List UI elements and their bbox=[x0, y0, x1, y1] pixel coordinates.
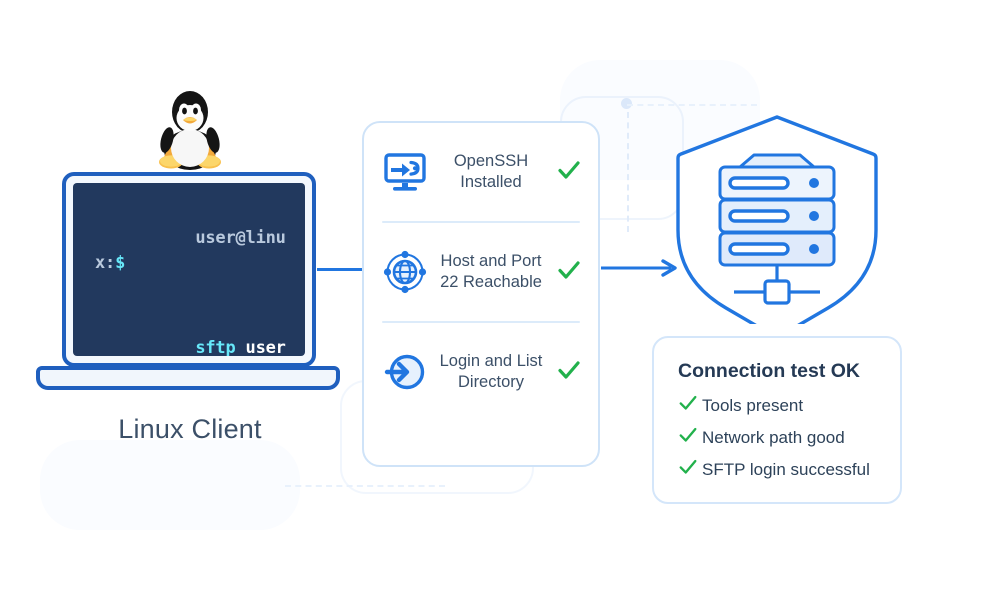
checklist-card: OpenSSH Installed bbox=[362, 121, 600, 467]
login-arrow-circle-icon bbox=[382, 349, 428, 395]
green-check-icon bbox=[678, 425, 702, 450]
background-blob-left bbox=[40, 440, 300, 530]
diagram-canvas: user@linux:$ sftp user@sftpexample.com C… bbox=[0, 0, 1000, 600]
connector-client-to-checklist bbox=[317, 268, 363, 271]
result-item-sftp: SFTP login successful bbox=[678, 457, 880, 482]
result-item-sftp-label: SFTP login successful bbox=[702, 460, 870, 480]
checklist-item-login[interactable]: Login and List Directory bbox=[364, 323, 598, 421]
terminal-prompt-line: user@linux:$ bbox=[95, 201, 291, 301]
terminal-screen: user@linux:$ sftp user@sftpexample.com C… bbox=[73, 183, 305, 356]
green-check-icon bbox=[678, 457, 702, 482]
terminal-content: user@linux:$ sftp user@sftpexample.com C… bbox=[95, 201, 291, 356]
background-dot bbox=[621, 98, 632, 109]
background-dashed-line-vertical bbox=[627, 112, 629, 232]
terminal-prompt-symbol: $ bbox=[115, 253, 125, 273]
checklist-item-openssh[interactable]: OpenSSH Installed bbox=[364, 123, 598, 221]
globe-network-icon bbox=[382, 249, 428, 295]
result-item-network: Network path good bbox=[678, 425, 880, 450]
green-check-icon bbox=[554, 257, 584, 288]
laptop-terminal: user@linux:$ sftp user@sftpexample.com C… bbox=[62, 172, 316, 367]
checklist-item-reachable-label: Host and Port 22 Reachable bbox=[428, 251, 554, 293]
terminal-command-space bbox=[236, 338, 246, 356]
result-item-network-label: Network path good bbox=[702, 428, 845, 448]
terminal-command-target: user@sftpexample.com bbox=[95, 338, 286, 356]
terminal-command-line: sftp user@sftpexample.com bbox=[95, 311, 291, 356]
checklist-item-reachable[interactable]: Host and Port 22 Reachable bbox=[364, 223, 598, 321]
result-item-tools: Tools present bbox=[678, 393, 880, 418]
laptop-label: Linux Client bbox=[55, 414, 325, 445]
background-dashed-line-horizontal bbox=[627, 104, 757, 106]
server-rack-in-shield-icon bbox=[668, 112, 886, 324]
linux-penguin-tux-icon bbox=[150, 84, 230, 172]
checklist-item-openssh-label: OpenSSH Installed bbox=[428, 151, 554, 193]
laptop-base bbox=[36, 366, 340, 390]
monitor-terminal-ssh-icon bbox=[382, 149, 428, 195]
green-check-icon bbox=[678, 393, 702, 418]
terminal-command-keyword: sftp bbox=[195, 338, 235, 356]
result-item-tools-label: Tools present bbox=[702, 396, 803, 416]
green-check-icon bbox=[554, 157, 584, 188]
background-dashed-line-horizontal-2 bbox=[285, 485, 445, 487]
checklist-item-login-label: Login and List Directory bbox=[428, 351, 554, 393]
result-card: Connection test OK Tools present Network… bbox=[652, 336, 902, 504]
result-title: Connection test OK bbox=[678, 360, 880, 383]
green-check-icon bbox=[554, 357, 584, 388]
